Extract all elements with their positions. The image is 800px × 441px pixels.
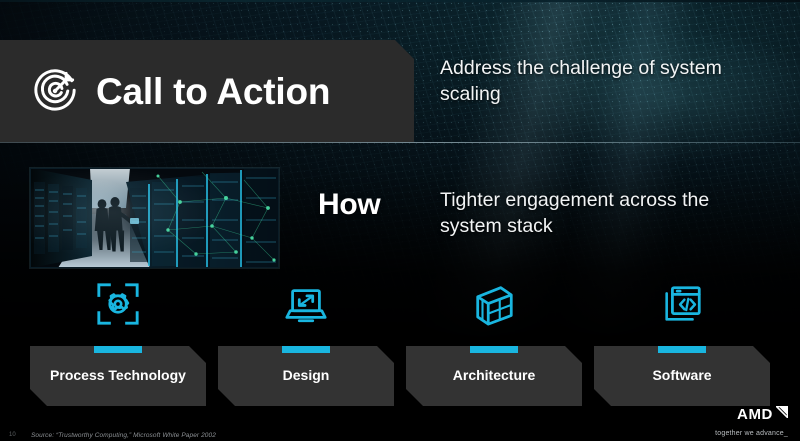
pillar-process-technology[interactable]: Process Technology — [30, 278, 206, 410]
amd-wordmark: AMD — [737, 407, 773, 422]
pillar-architecture[interactable]: Architecture — [406, 278, 582, 410]
card-accent-tab — [282, 346, 330, 353]
page-title: Call to Action — [96, 73, 330, 110]
pillar-card[interactable]: Process Technology — [30, 346, 206, 406]
pillar-label: Design — [275, 367, 338, 385]
pillar-card[interactable]: Software — [594, 346, 770, 406]
pillar-label: Architecture — [445, 367, 543, 385]
top-edge-line — [0, 0, 800, 2]
amd-tagline: together we advance_ — [715, 430, 788, 437]
datacenter-photo — [30, 168, 279, 268]
architecture-cube-icon — [471, 278, 517, 330]
target-icon — [32, 68, 78, 114]
amd-logo: AMD — [737, 405, 788, 423]
source-citation: Source: “Trustworthy Computing,” Microso… — [31, 432, 216, 439]
header-statement: Address the challenge of system scaling — [440, 56, 770, 108]
software-code-icon — [659, 278, 705, 330]
card-accent-tab — [658, 346, 706, 353]
card-accent-tab — [94, 346, 142, 353]
process-technology-icon — [95, 278, 141, 330]
pillar-card[interactable]: Design — [218, 346, 394, 406]
pillar-row: Process Technology Design — [30, 278, 770, 410]
page-number: 10 — [9, 432, 16, 438]
pillar-label: Software — [644, 367, 719, 385]
amd-arrow-icon — [776, 405, 788, 423]
pillar-software[interactable]: Software — [594, 278, 770, 410]
design-laptop-icon — [283, 278, 329, 330]
header-content: Call to Action — [0, 40, 414, 142]
card-accent-tab — [470, 346, 518, 353]
pillar-card[interactable]: Architecture — [406, 346, 582, 406]
how-statement: Tighter engagement across the system sta… — [440, 188, 770, 240]
slide-canvas: Call to Action Address the challenge of … — [0, 0, 800, 441]
pillar-design[interactable]: Design — [218, 278, 394, 410]
header-divider-line — [0, 142, 800, 143]
pillar-label: Process Technology — [42, 367, 194, 385]
how-label: How — [318, 190, 380, 220]
